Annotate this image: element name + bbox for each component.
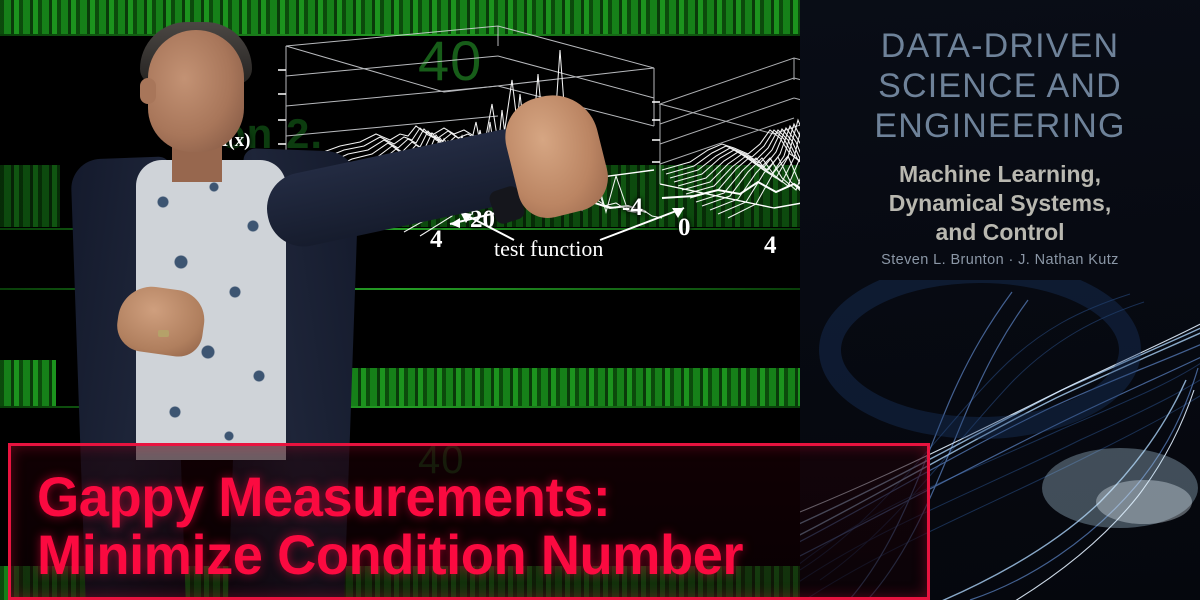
video-frame: 40 3 40 ction 2. (0, 0, 1200, 600)
book-subtitle: Machine Learning, Dynamical Systems, and… (800, 160, 1200, 247)
face (148, 30, 244, 152)
book-title-line2: SCIENCE AND (800, 66, 1200, 106)
ring (158, 330, 169, 337)
title-banner: Gappy Measurements: Minimize Condition N… (8, 443, 930, 600)
book-subtitle-line1: Machine Learning, (800, 160, 1200, 189)
title-banner-line2: Minimize Condition Number (37, 526, 891, 584)
book-authors: Steven L. Brunton · J. Nathan Kutz (800, 252, 1200, 268)
book-title-line3: ENGINEERING (800, 106, 1200, 146)
title-banner-line1: Gappy Measurements: (37, 468, 891, 526)
book-subtitle-line3: and Control (800, 218, 1200, 247)
book-title-line1: DATA-DRIVEN (800, 26, 1200, 66)
book-title: DATA-DRIVEN SCIENCE AND ENGINEERING (800, 26, 1200, 146)
eq-band-mid-b (290, 368, 800, 406)
book-subtitle-line2: Dynamical Systems, (800, 189, 1200, 218)
ear (140, 78, 156, 104)
